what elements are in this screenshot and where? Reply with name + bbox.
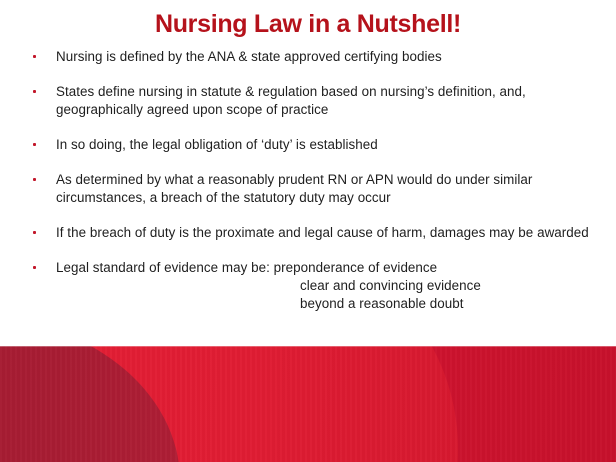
square-bullet-icon <box>33 143 36 146</box>
list-item-text: Legal standard of evidence may be: prepo… <box>56 260 437 275</box>
list-item-text: If the breach of duty is the proximate a… <box>56 225 589 240</box>
page-title: Nursing Law in a Nutshell! <box>0 9 616 39</box>
list-item-continuation-line: beyond a reasonable doubt <box>56 295 606 313</box>
list-item-text: As determined by what a reasonably prude… <box>56 172 532 205</box>
list-item: Nursing is defined by the ANA & state ap… <box>0 48 616 66</box>
list-item: Legal standard of evidence may be: prepo… <box>0 259 616 312</box>
list-item-text: States define nursing in statute & regul… <box>56 84 526 117</box>
square-bullet-icon <box>33 55 36 58</box>
list-item: States define nursing in statute & regul… <box>0 83 616 119</box>
square-bullet-icon <box>33 266 36 269</box>
band-texture-overlay <box>0 346 616 462</box>
square-bullet-icon <box>33 178 36 181</box>
band-top-hairline <box>0 346 616 347</box>
list-item-text: Nursing is defined by the ANA & state ap… <box>56 49 442 64</box>
list-item: As determined by what a reasonably prude… <box>0 171 616 207</box>
square-bullet-icon <box>33 90 36 93</box>
list-item-continuation-line: clear and convincing evidence <box>56 277 606 295</box>
bullet-list: Nursing is defined by the ANA & state ap… <box>0 48 616 312</box>
slide-canvas: Nursing Law in a Nutshell! Nursing is de… <box>0 0 616 462</box>
list-item: In so doing, the legal obligation of ‘du… <box>0 136 616 154</box>
square-bullet-icon <box>33 231 36 234</box>
list-item: If the breach of duty is the proximate a… <box>0 224 616 242</box>
decorative-red-band <box>0 346 616 462</box>
list-item-text: In so doing, the legal obligation of ‘du… <box>56 137 378 152</box>
